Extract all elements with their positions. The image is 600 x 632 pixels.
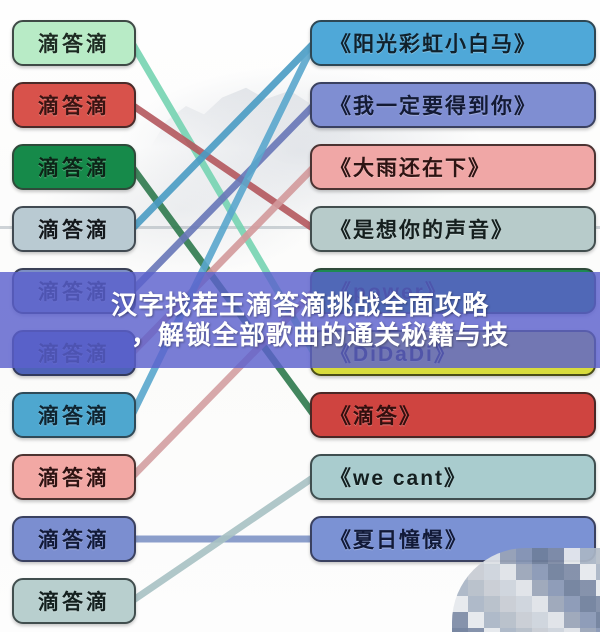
right-song-label: 《阳光彩虹小白马》	[312, 28, 537, 58]
promo-banner: 汉字找茬王滴答滴挑战全面攻略 ，解锁全部歌曲的通关秘籍与技	[0, 272, 600, 368]
mosaic-censor-overlay	[452, 548, 600, 632]
mosaic-block	[500, 628, 516, 632]
right-song-label: 《滴答》	[312, 400, 422, 430]
right-song-label: 《夏日憧憬》	[312, 524, 468, 554]
mosaic-block	[596, 612, 600, 628]
mosaic-block	[564, 596, 580, 612]
mosaic-block	[468, 628, 484, 632]
mosaic-block	[548, 580, 564, 596]
mosaic-block	[500, 596, 516, 612]
mosaic-block	[564, 580, 580, 596]
mosaic-block	[484, 580, 500, 596]
left-card-l9[interactable]: 滴答滴	[12, 516, 136, 562]
mosaic-block	[484, 596, 500, 612]
mosaic-block	[484, 612, 500, 628]
right-song-r7[interactable]: 《滴答》	[310, 392, 596, 438]
mosaic-block	[580, 596, 596, 612]
left-card-label: 滴答滴	[38, 524, 110, 554]
mosaic-block	[452, 612, 468, 628]
mosaic-block	[468, 548, 484, 564]
mosaic-block	[548, 596, 564, 612]
right-song-label: 《我一定要得到你》	[312, 90, 537, 120]
mosaic-block	[516, 596, 532, 612]
mosaic-block	[484, 628, 500, 632]
right-song-r2[interactable]: 《我一定要得到你》	[310, 82, 596, 128]
right-song-r1[interactable]: 《阳光彩虹小白马》	[310, 20, 596, 66]
mosaic-block	[468, 612, 484, 628]
banner-line-2: ，解锁全部歌曲的通关秘籍与技	[91, 321, 509, 349]
mosaic-block	[596, 548, 600, 564]
right-song-label: 《we cant》	[312, 462, 467, 492]
mosaic-block	[452, 548, 468, 564]
left-card-l10[interactable]: 滴答滴	[12, 578, 136, 624]
connection-line-l2-r4[interactable]	[132, 105, 314, 229]
mosaic-block	[532, 612, 548, 628]
mosaic-block	[596, 564, 600, 580]
left-card-l2[interactable]: 滴答滴	[12, 82, 136, 128]
mosaic-block	[596, 596, 600, 612]
mosaic-block	[516, 612, 532, 628]
mosaic-block	[500, 612, 516, 628]
mosaic-block	[452, 564, 468, 580]
mosaic-block	[516, 564, 532, 580]
mosaic-block	[580, 564, 596, 580]
mosaic-block	[500, 548, 516, 564]
mosaic-block	[452, 628, 468, 632]
mosaic-block	[596, 628, 600, 632]
mosaic-block	[564, 628, 580, 632]
left-card-l7[interactable]: 滴答滴	[12, 392, 136, 438]
mosaic-block	[516, 628, 532, 632]
left-card-label: 滴答滴	[38, 214, 110, 244]
right-song-r3[interactable]: 《大雨还在下》	[310, 144, 596, 190]
mosaic-block	[564, 612, 580, 628]
mosaic-block	[468, 564, 484, 580]
mosaic-block	[516, 548, 532, 564]
mosaic-block	[468, 580, 484, 596]
mosaic-block	[596, 580, 600, 596]
left-card-l1[interactable]: 滴答滴	[12, 20, 136, 66]
mosaic-block	[516, 580, 532, 596]
mosaic-block	[580, 612, 596, 628]
left-card-label: 滴答滴	[38, 400, 110, 430]
mosaic-block	[564, 548, 580, 564]
mosaic-block	[468, 596, 484, 612]
mosaic-block	[580, 628, 596, 632]
mosaic-block	[452, 580, 468, 596]
left-card-l4[interactable]: 滴答滴	[12, 206, 136, 252]
mosaic-block	[484, 548, 500, 564]
mosaic-block	[500, 564, 516, 580]
left-card-label: 滴答滴	[38, 586, 110, 616]
mosaic-block	[532, 628, 548, 632]
mosaic-block	[548, 612, 564, 628]
mosaic-block	[580, 580, 596, 596]
left-card-label: 滴答滴	[38, 462, 110, 492]
mosaic-block	[564, 564, 580, 580]
mosaic-block	[580, 548, 596, 564]
right-song-r4[interactable]: 《是想你的声音》	[310, 206, 596, 252]
mosaic-block	[532, 580, 548, 596]
mosaic-block	[532, 548, 548, 564]
puzzle-screenshot: 滴答滴滴答滴滴答滴滴答滴滴答滴滴答滴滴答滴滴答滴滴答滴滴答滴 《阳光彩虹小白马》…	[0, 0, 600, 632]
right-song-label: 《大雨还在下》	[312, 152, 491, 182]
mosaic-block	[532, 596, 548, 612]
left-card-l3[interactable]: 滴答滴	[12, 144, 136, 190]
mosaic-block	[500, 580, 516, 596]
left-card-label: 滴答滴	[38, 152, 110, 182]
mosaic-block	[484, 564, 500, 580]
mosaic-block	[548, 628, 564, 632]
banner-line-1: 汉字找茬王滴答滴挑战全面攻略	[111, 291, 489, 319]
left-card-label: 滴答滴	[38, 28, 110, 58]
mosaic-block	[548, 564, 564, 580]
mosaic-block	[452, 596, 468, 612]
mosaic-block	[532, 564, 548, 580]
right-song-label: 《是想你的声音》	[312, 214, 514, 244]
right-song-r8[interactable]: 《we cant》	[310, 454, 596, 500]
left-card-l8[interactable]: 滴答滴	[12, 454, 136, 500]
left-card-label: 滴答滴	[38, 90, 110, 120]
mosaic-block	[548, 548, 564, 564]
